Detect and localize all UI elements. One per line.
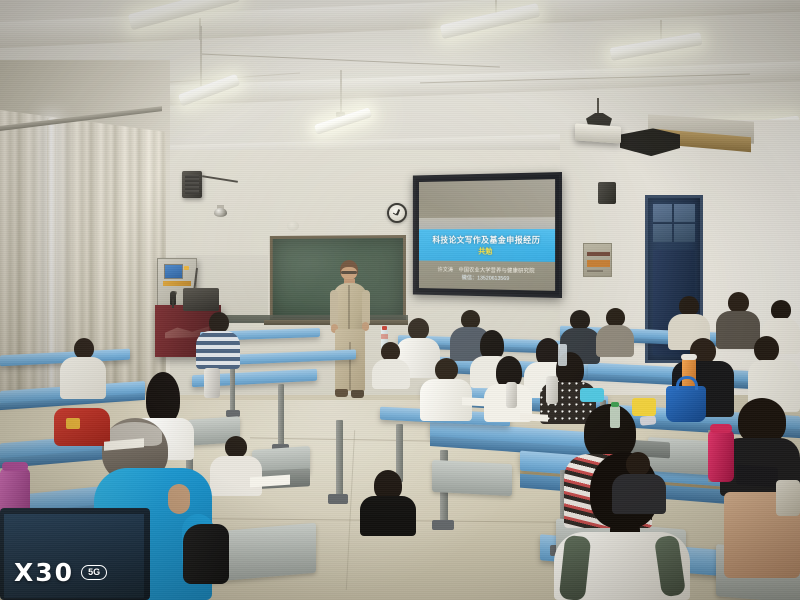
classroom-photo: 科技论文写作及基金申报经历 共勉 许文涛 中国农业大学营养与健康研究院 微信：1… <box>0 0 800 600</box>
attendee-head <box>209 312 229 333</box>
attendee-shirt <box>612 474 666 514</box>
light-stem <box>340 70 342 114</box>
paper-sheet <box>520 413 548 421</box>
wall-poster <box>583 243 612 277</box>
desk-foot <box>432 520 454 530</box>
desk-leg <box>336 420 343 498</box>
glasses-icon <box>341 271 357 274</box>
speaker-icon <box>598 182 616 204</box>
speaker-icon <box>182 171 202 198</box>
speaker-grill <box>185 175 199 194</box>
microphone-stem <box>172 299 174 308</box>
attendee-head <box>626 452 650 476</box>
attendee-shirt <box>360 496 416 536</box>
bottle-cap <box>382 326 387 330</box>
backpack <box>54 408 110 446</box>
handbag-handle <box>676 376 698 390</box>
poster-line <box>587 252 610 256</box>
presenter <box>330 260 370 410</box>
attendee-shirt <box>596 325 634 357</box>
presenter-arm <box>330 290 338 328</box>
attendee <box>372 342 410 386</box>
poster-line <box>587 270 603 272</box>
backpack-patch <box>66 418 80 429</box>
desk-leg <box>230 362 235 412</box>
status-led <box>184 266 189 270</box>
desk-leg <box>278 384 284 446</box>
mug-lid <box>681 354 697 360</box>
wall-plate <box>287 221 299 231</box>
attendee-head <box>408 318 429 340</box>
chair-back <box>432 460 512 496</box>
yellow-pouch <box>632 398 656 416</box>
attendee-head <box>74 338 94 359</box>
control-label-strip <box>163 281 191 286</box>
light-stem <box>200 26 202 86</box>
attendee-head <box>728 292 749 313</box>
paper-sheet <box>462 397 496 407</box>
clock-icon <box>387 203 407 223</box>
attendee-head <box>570 310 590 330</box>
attendee-shirt <box>372 359 410 389</box>
thermos-flask <box>546 376 558 404</box>
attendee-striped-shirt <box>196 331 240 369</box>
projection-screen-surface: 科技论文写作及基金申报经历 共勉 许文涛 中国农业大学营养与健康研究院 微信：1… <box>419 179 555 291</box>
water-bottle <box>708 430 734 482</box>
attendee <box>60 338 106 398</box>
camera-watermark: X30 5G <box>14 558 107 587</box>
attendee <box>420 358 472 416</box>
screen-glare <box>419 179 555 291</box>
blue-pouch <box>580 388 604 402</box>
notebook <box>736 465 778 488</box>
attendee-head <box>754 336 779 362</box>
attendee-head <box>225 436 247 458</box>
attendee <box>596 308 634 354</box>
attendee-shorts <box>183 524 229 584</box>
poster-line <box>587 260 610 267</box>
camera-icon <box>214 205 227 217</box>
desk-foot <box>328 494 348 504</box>
watermark-model: X30 <box>14 558 74 587</box>
lectern-monitor <box>183 288 219 311</box>
attendee <box>360 470 416 530</box>
door-mullion <box>653 222 695 224</box>
thermos-flask <box>506 382 517 408</box>
projector-icon <box>575 123 621 143</box>
presenter-shoe <box>351 390 364 398</box>
presenter-shoe <box>335 389 348 397</box>
water-bottle <box>558 344 567 366</box>
camera-dome <box>214 208 227 217</box>
control-panel-display <box>164 264 183 279</box>
water-bottle <box>610 406 620 428</box>
attendee-shirt <box>210 456 262 496</box>
attendee-head <box>679 296 699 316</box>
attendee-head <box>435 358 458 381</box>
handbag <box>666 386 706 422</box>
attendee-hand <box>168 484 190 514</box>
bottle-cap <box>611 402 619 407</box>
shirt-placket <box>348 285 350 329</box>
smartphone <box>640 415 657 426</box>
bottle-label <box>381 334 388 339</box>
attendee-shirt <box>60 357 106 399</box>
bottle-cap <box>710 424 732 433</box>
attendee-head <box>771 300 791 320</box>
attendee <box>612 452 666 510</box>
watermark-badge: 5G <box>81 565 107 580</box>
presenter-arm <box>362 290 370 326</box>
handbag <box>776 480 800 516</box>
thermos-flask <box>204 368 220 398</box>
projection-screen: 科技论文写作及基金申报经历 共勉 许文涛 中国农业大学营养与健康研究院 微信：1… <box>413 172 562 298</box>
bottle-cap <box>2 462 28 471</box>
attendee <box>196 312 240 368</box>
